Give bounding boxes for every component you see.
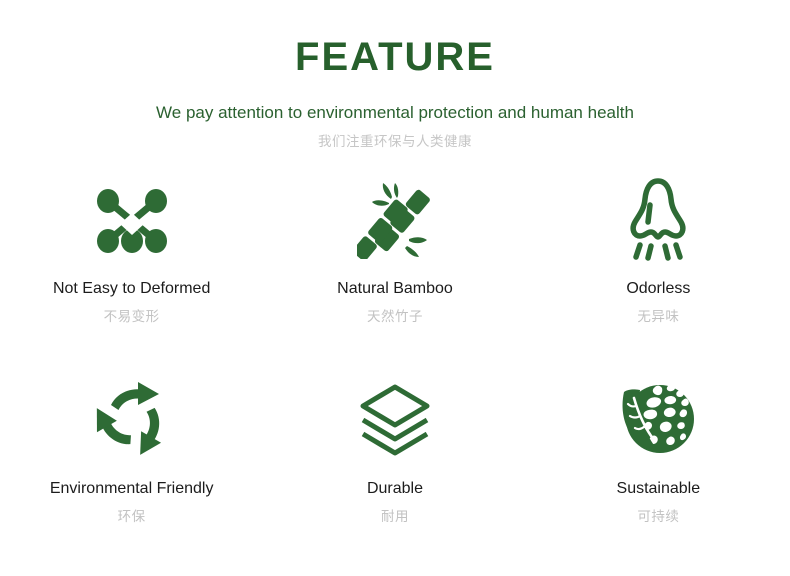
layers-stack-icon <box>357 369 433 469</box>
feature-label-cn: 天然竹子 <box>367 309 423 326</box>
subtitle-english: We pay attention to environmental protec… <box>0 102 790 124</box>
section-header: FEATURE We pay attention to environmenta… <box>0 0 790 151</box>
feature-item-sustainable: Sustainable 可持续 <box>527 369 790 565</box>
recycle-arrows-icon <box>91 369 173 469</box>
nose-icon <box>627 173 689 269</box>
feature-label-cn: 不易变形 <box>104 309 160 326</box>
feature-grid: Not Easy to Deformed 不易变形 <box>0 173 790 565</box>
feature-item-not-easy-to-deformed: Not Easy to Deformed 不易变形 <box>0 173 263 369</box>
molecule-cross-icon <box>95 173 169 269</box>
feature-label-cn: 无异味 <box>637 309 679 326</box>
bamboo-icon <box>357 173 433 269</box>
feature-label-en: Odorless <box>626 279 690 299</box>
feature-label-en: Natural Bamboo <box>337 279 453 299</box>
feature-item-odorless: Odorless 无异味 <box>527 173 790 369</box>
feature-label-cn: 环保 <box>118 509 146 526</box>
feature-label-en: Environmental Friendly <box>50 479 214 499</box>
globe-leaf-icon <box>618 369 698 469</box>
feature-item-natural-bamboo: Natural Bamboo 天然竹子 <box>263 173 526 369</box>
feature-section: FEATURE We pay attention to environmenta… <box>0 0 790 576</box>
feature-label-cn: 可持续 <box>637 509 679 526</box>
feature-item-durable: Durable 耐用 <box>263 369 526 565</box>
feature-item-environmental-friendly: Environmental Friendly 环保 <box>0 369 263 565</box>
feature-label-en: Durable <box>367 479 423 499</box>
feature-label-cn: 耐用 <box>381 509 409 526</box>
feature-label-en: Not Easy to Deformed <box>53 279 210 299</box>
page-title: FEATURE <box>0 34 790 80</box>
feature-label-en: Sustainable <box>617 479 701 499</box>
subtitle-chinese: 我们注重环保与人类健康 <box>0 133 790 151</box>
